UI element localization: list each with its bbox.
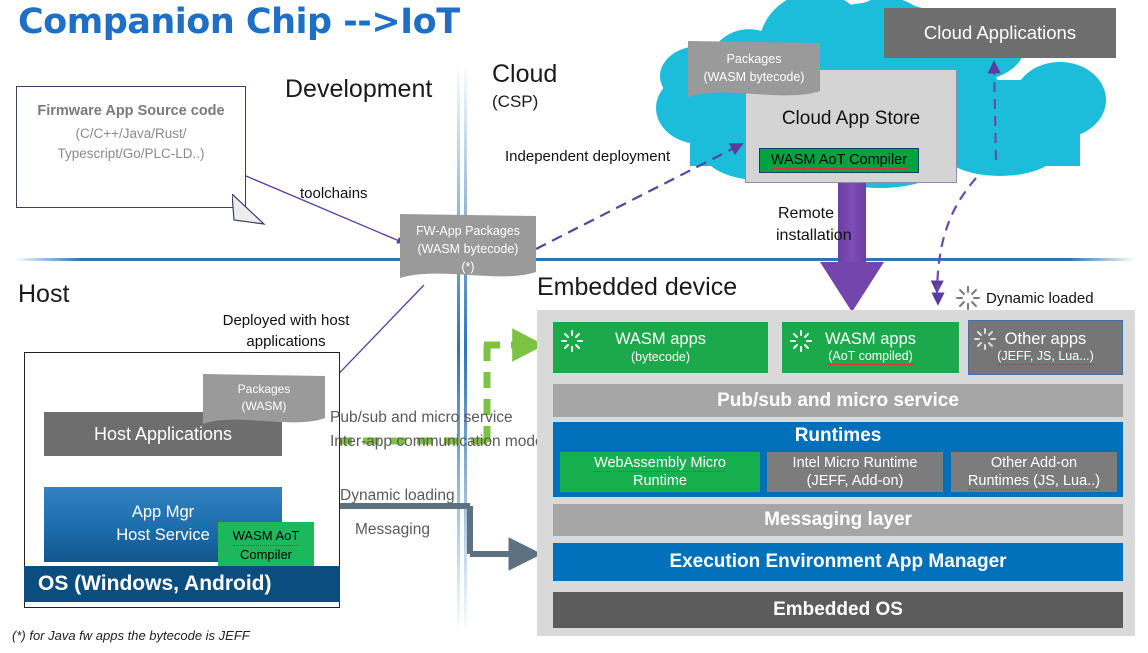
embedded-os-label: Embedded OS (773, 599, 903, 621)
cloud-aot-compiler-box: WASM AoT Compiler (759, 148, 919, 173)
embedded-os-row: Embedded OS (553, 592, 1123, 628)
label-pubsub-line2: Inter-app communication models (330, 433, 555, 451)
embedded-runtime-1-line2: (JEFF, Add-on) (807, 472, 904, 490)
label-deployed-with-host: Deployed with host applications (216, 310, 356, 352)
host-aot-line2: Compiler (240, 546, 292, 564)
embedded-app-2-line1: Other apps (1005, 330, 1087, 350)
cloud-applications-box: Cloud Applications (884, 8, 1116, 58)
arrow-dynamic-loaded (937, 178, 976, 292)
host-packages-line1: Packages (203, 381, 325, 398)
firmware-source-title: Firmware App Source code (17, 103, 245, 119)
cloud-packages-line1: Packages (688, 50, 820, 68)
embedded-runtime-1-line1: Intel Micro Runtime (793, 454, 918, 472)
embedded-messaging-label: Messaging layer (764, 509, 912, 531)
label-independent-deployment: Independent deployment (505, 148, 670, 165)
section-label-host: Host (18, 280, 69, 309)
embedded-runtime-2: Other Add-on Runtimes (JS, Lua..) (951, 452, 1117, 492)
label-dynamic-loading: Dynamic loading (340, 487, 455, 505)
vertical-divider (457, 62, 467, 634)
label-remote-installation: Remote installation (776, 203, 836, 246)
embedded-runtime-2-line2: Runtimes (JS, Lua..) (968, 473, 1100, 490)
firmware-source-box: Firmware App Source code (C/C++/Java/Rus… (16, 86, 246, 208)
embedded-messaging-row: Messaging layer (553, 504, 1123, 536)
host-aot-compiler-box: WASM AoT Compiler (218, 522, 314, 569)
embedded-app-manager-label: Execution Environment App Manager (669, 551, 1006, 573)
label-pubsub-line1: Pub/sub and micro service (330, 409, 513, 427)
cloud-packages-line2: (WASM bytecode) (688, 68, 820, 86)
embedded-app-0-line1: WASM apps (615, 330, 706, 350)
embedded-app-0-line2: (bytecode) (631, 350, 690, 365)
embedded-runtime-1: Intel Micro Runtime (JEFF, Add-on) (767, 452, 943, 492)
horizontal-divider (14, 258, 1136, 261)
cloud-packages-callout: Packages (WASM bytecode) (688, 41, 820, 103)
fw-packages-line2: (WASM bytecode) (400, 240, 536, 258)
embedded-runtime-0-line1: WebAssembly Micro (594, 455, 726, 472)
fw-packages-line1: FW-App Packages (400, 222, 536, 240)
arrow-to-cloud-apps (994, 62, 996, 160)
embedded-app-0: WASM apps (bytecode) (553, 322, 768, 373)
cloud-aot-compiler-label: WASM AoT Compiler (771, 152, 907, 169)
embedded-pubsub-row: Pub/sub and micro service (553, 384, 1123, 417)
fw-packages-line3: (*) (400, 258, 536, 276)
embedded-app-manager-row: Execution Environment App Manager (553, 543, 1123, 581)
embedded-runtime-2-line1: Other Add-on (991, 454, 1077, 472)
slide-canvas: Companion Chip -->IoT Development Cloud … (0, 0, 1148, 653)
embedded-app-2-line2: (JEFF, JS, Lua...) (997, 349, 1094, 365)
cloud-app-store-title: Cloud App Store (746, 108, 956, 130)
host-os-label: OS (Windows, Android) (38, 572, 272, 596)
embedded-pubsub-label: Pub/sub and micro service (717, 390, 959, 412)
section-label-cloud-sub: (CSP) (492, 92, 538, 112)
embedded-runtime-0-line2: Runtime (633, 472, 687, 490)
fw-packages-callout: FW-App Packages (WASM bytecode) (*) (400, 214, 536, 284)
spinner-icon-app-1 (790, 330, 812, 352)
embedded-runtime-0: WebAssembly Micro Runtime (560, 452, 760, 492)
spinner-icon-app-2 (974, 328, 996, 350)
host-packages-callout: Packages (WASM) (203, 374, 325, 430)
firmware-box-tail (232, 194, 266, 226)
arrow-pubsub (312, 345, 536, 443)
host-aot-line1: WASM AoT (233, 527, 300, 546)
label-toolchains: toolchains (300, 185, 368, 202)
section-label-development: Development (285, 75, 432, 104)
page-title: Companion Chip -->IoT (18, 2, 460, 42)
section-label-cloud: Cloud (492, 60, 557, 89)
spinner-icon-legend (956, 286, 980, 310)
host-os-bar: OS (Windows, Android) (24, 566, 340, 602)
firmware-source-languages: (C/C++/Java/Rust/ Typescript/Go/PLC-LD..… (17, 124, 245, 163)
label-messaging: Messaging (355, 521, 430, 539)
embedded-runtimes-title: Runtimes (553, 422, 1123, 447)
footnote: (*) for Java fw apps the bytecode is JEF… (12, 628, 250, 643)
cloud-applications-label: Cloud Applications (924, 22, 1076, 44)
embedded-app-1-line2: (AoT compiled) (828, 349, 913, 365)
spinner-icon-app-0 (561, 330, 583, 352)
host-app-mgr-line1: App Mgr (132, 501, 194, 524)
section-label-embedded: Embedded device (537, 273, 737, 302)
embedded-app-1-line1: WASM apps (825, 330, 916, 350)
host-packages-line2: (WASM) (203, 398, 325, 415)
label-dynamic-loaded: Dynamic loaded (986, 290, 1094, 307)
